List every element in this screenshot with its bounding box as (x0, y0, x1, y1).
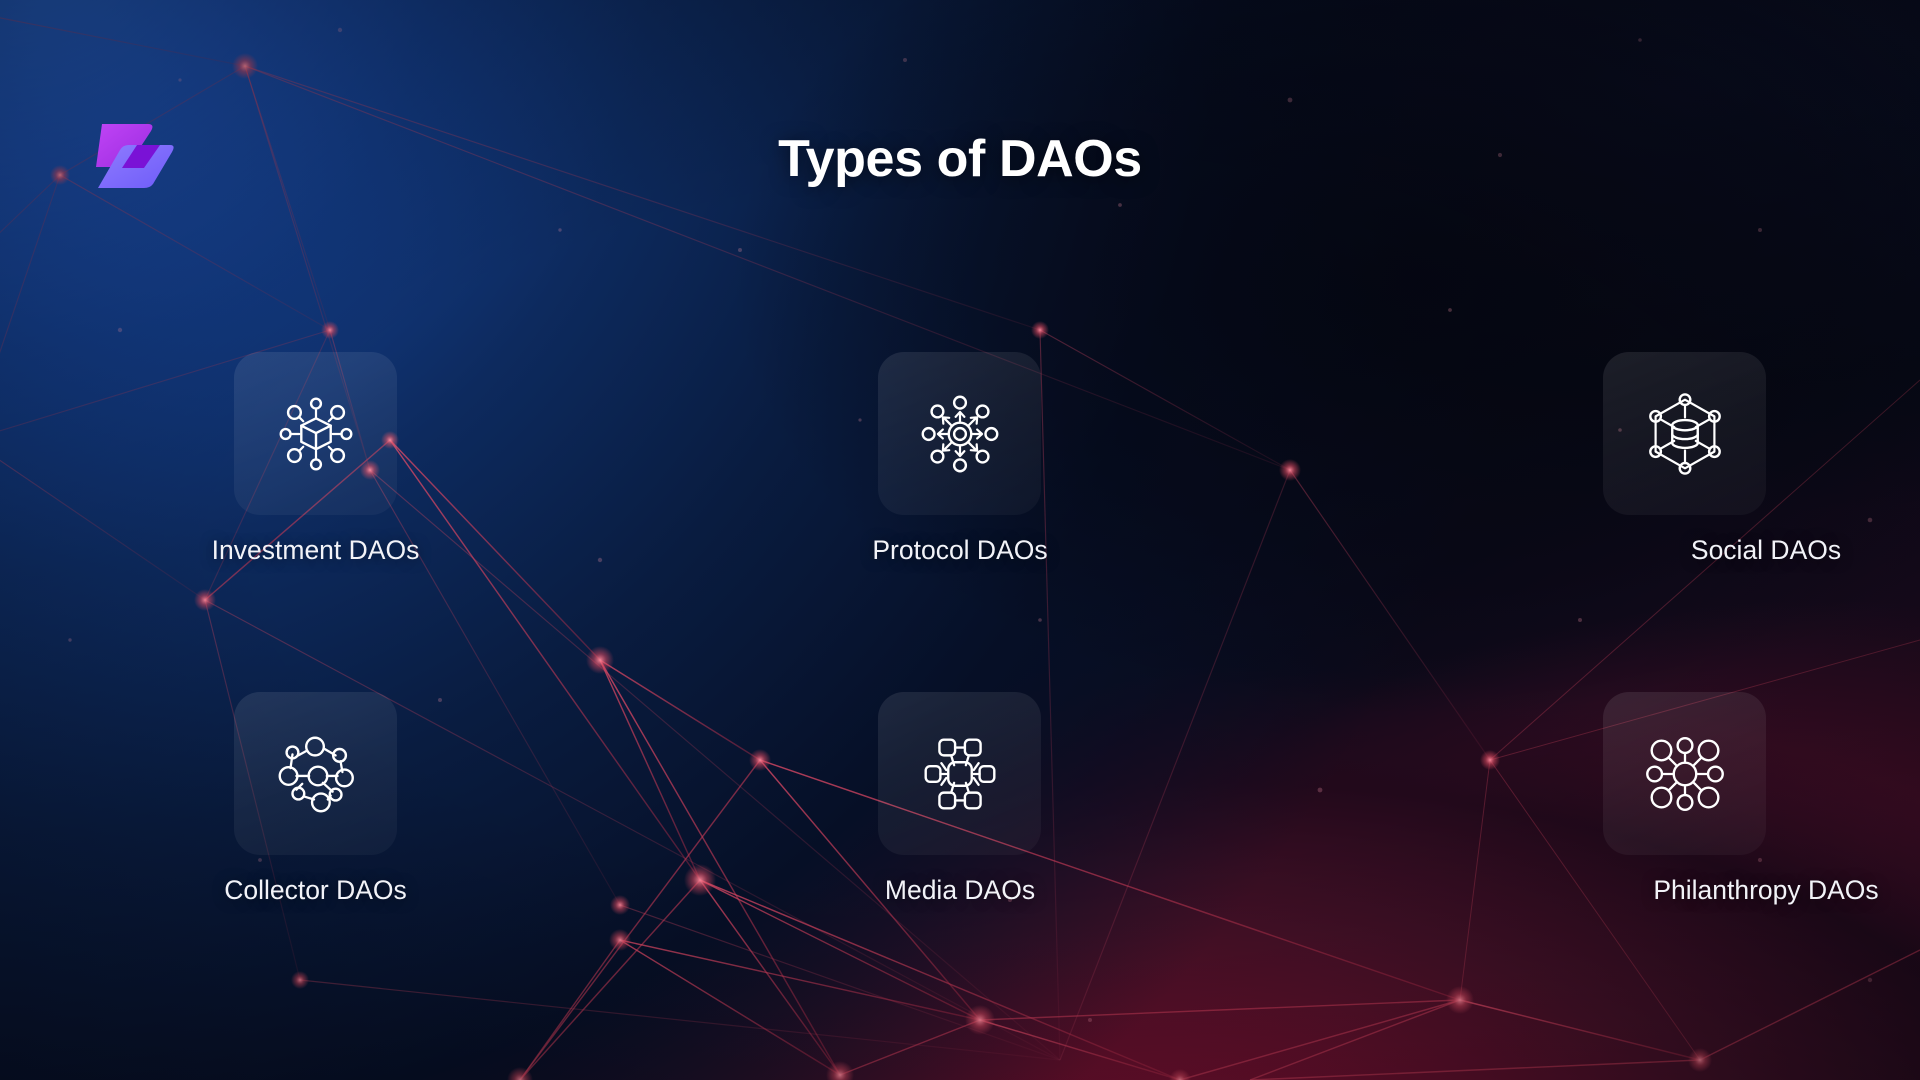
dao-type-label: Collector DAOs (224, 875, 407, 906)
dao-types-grid: Investment DAOs (0, 352, 1920, 906)
square-node-mesh-icon (911, 725, 1009, 823)
cube-network-icon (267, 385, 365, 483)
icon-tile-collector[interactable] (234, 692, 397, 855)
icon-tile-media[interactable] (878, 692, 1041, 855)
dao-type-label: Social DAOs (1691, 535, 1841, 566)
dao-type-card-philanthropy[interactable]: Philanthropy DAOs (1253, 692, 1840, 906)
page-title: Types of DAOs (0, 131, 1920, 188)
radial-arrows-hub-icon (911, 385, 1009, 483)
dao-type-label: Investment DAOs (212, 535, 420, 566)
dao-type-card-investment[interactable]: Investment DAOs (80, 352, 667, 566)
hub-spoke-circles-icon (1636, 725, 1734, 823)
icon-tile-investment[interactable] (234, 352, 397, 515)
icon-tile-social[interactable] (1603, 352, 1766, 515)
dao-type-label: Philanthropy DAOs (1653, 875, 1878, 906)
hexagon-database-network-icon (1636, 385, 1734, 483)
dao-type-card-protocol[interactable]: Protocol DAOs (667, 352, 1254, 566)
dao-type-card-collector[interactable]: Collector DAOs (80, 692, 667, 906)
dao-type-label: Media DAOs (885, 875, 1035, 906)
dao-type-label: Protocol DAOs (872, 535, 1047, 566)
icon-tile-philanthropy[interactable] (1603, 692, 1766, 855)
dao-type-card-social[interactable]: Social DAOs (1253, 352, 1840, 566)
slide-canvas: Types of DAOs (0, 0, 1920, 1080)
icon-tile-protocol[interactable] (878, 352, 1041, 515)
organic-node-cluster-icon (267, 725, 365, 823)
dao-type-card-media[interactable]: Media DAOs (667, 692, 1254, 906)
